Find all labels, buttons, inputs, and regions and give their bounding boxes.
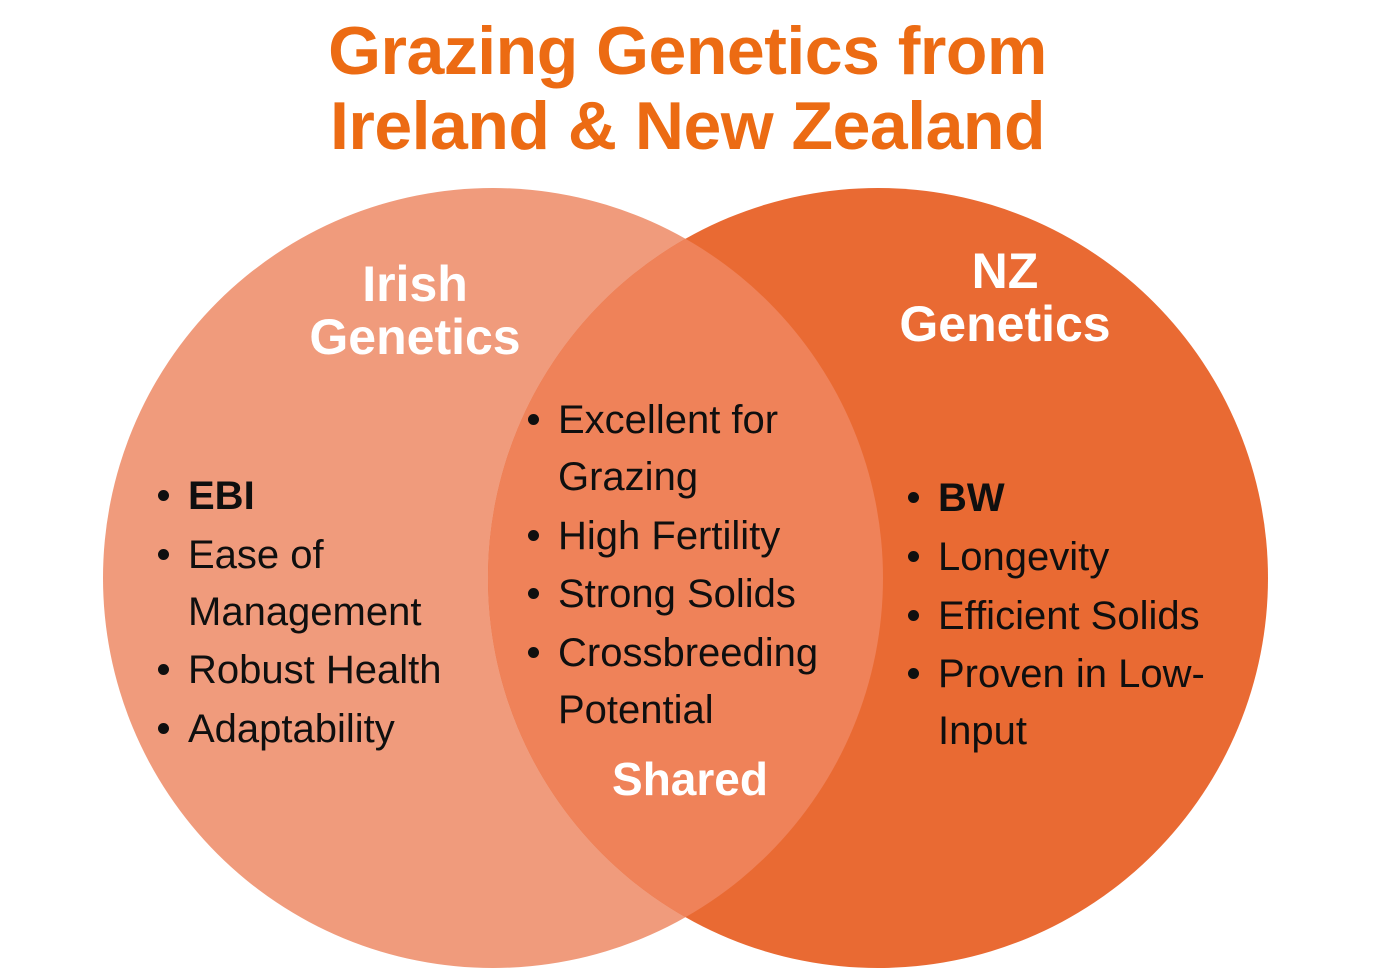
list-item-label: Crossbreeding Potential — [558, 631, 818, 732]
list-item: High Fertility — [520, 508, 880, 565]
list-item: Strong Solids — [520, 566, 880, 623]
list-item: EBI — [150, 468, 480, 525]
list-item-label: Efficient Solids — [938, 594, 1200, 638]
list-item-label: Ease of Management — [188, 533, 421, 634]
shared-region-heading: Shared — [520, 755, 860, 803]
right-bullet-list: BW Longevity Efficient Solids Proven in … — [900, 470, 1250, 762]
list-item: Longevity — [900, 529, 1250, 586]
list-item-label: Excellent for Grazing — [558, 398, 778, 499]
venn-diagram-canvas: Grazing Genetics from Ireland & New Zeal… — [0, 0, 1375, 972]
list-item-label: Strong Solids — [558, 572, 796, 616]
list-item-label: Longevity — [938, 535, 1109, 579]
list-item-label: Adaptability — [188, 707, 395, 751]
list-item-label: EBI — [188, 474, 255, 518]
list-item: Proven in Low-Input — [900, 646, 1250, 760]
shared-bullet-list: Excellent for Grazing High Fertility Str… — [520, 392, 880, 741]
list-item: Efficient Solids — [900, 588, 1250, 645]
list-item: Crossbreeding Potential — [520, 625, 880, 739]
list-item: Excellent for Grazing — [520, 392, 880, 506]
list-item-label: Robust Health — [188, 648, 441, 692]
list-item-label: BW — [938, 476, 1005, 520]
list-item-label: Proven in Low-Input — [938, 652, 1205, 753]
list-item: Robust Health — [150, 642, 480, 699]
list-item: Ease of Management — [150, 527, 480, 641]
right-circle-heading: NZ Genetics — [835, 245, 1175, 351]
left-circle-heading: Irish Genetics — [245, 258, 585, 364]
list-item: BW — [900, 470, 1250, 527]
list-item: Adaptability — [150, 701, 480, 758]
left-bullet-list: EBI Ease of Management Robust Health Ada… — [150, 468, 480, 760]
list-item-label: High Fertility — [558, 514, 780, 558]
